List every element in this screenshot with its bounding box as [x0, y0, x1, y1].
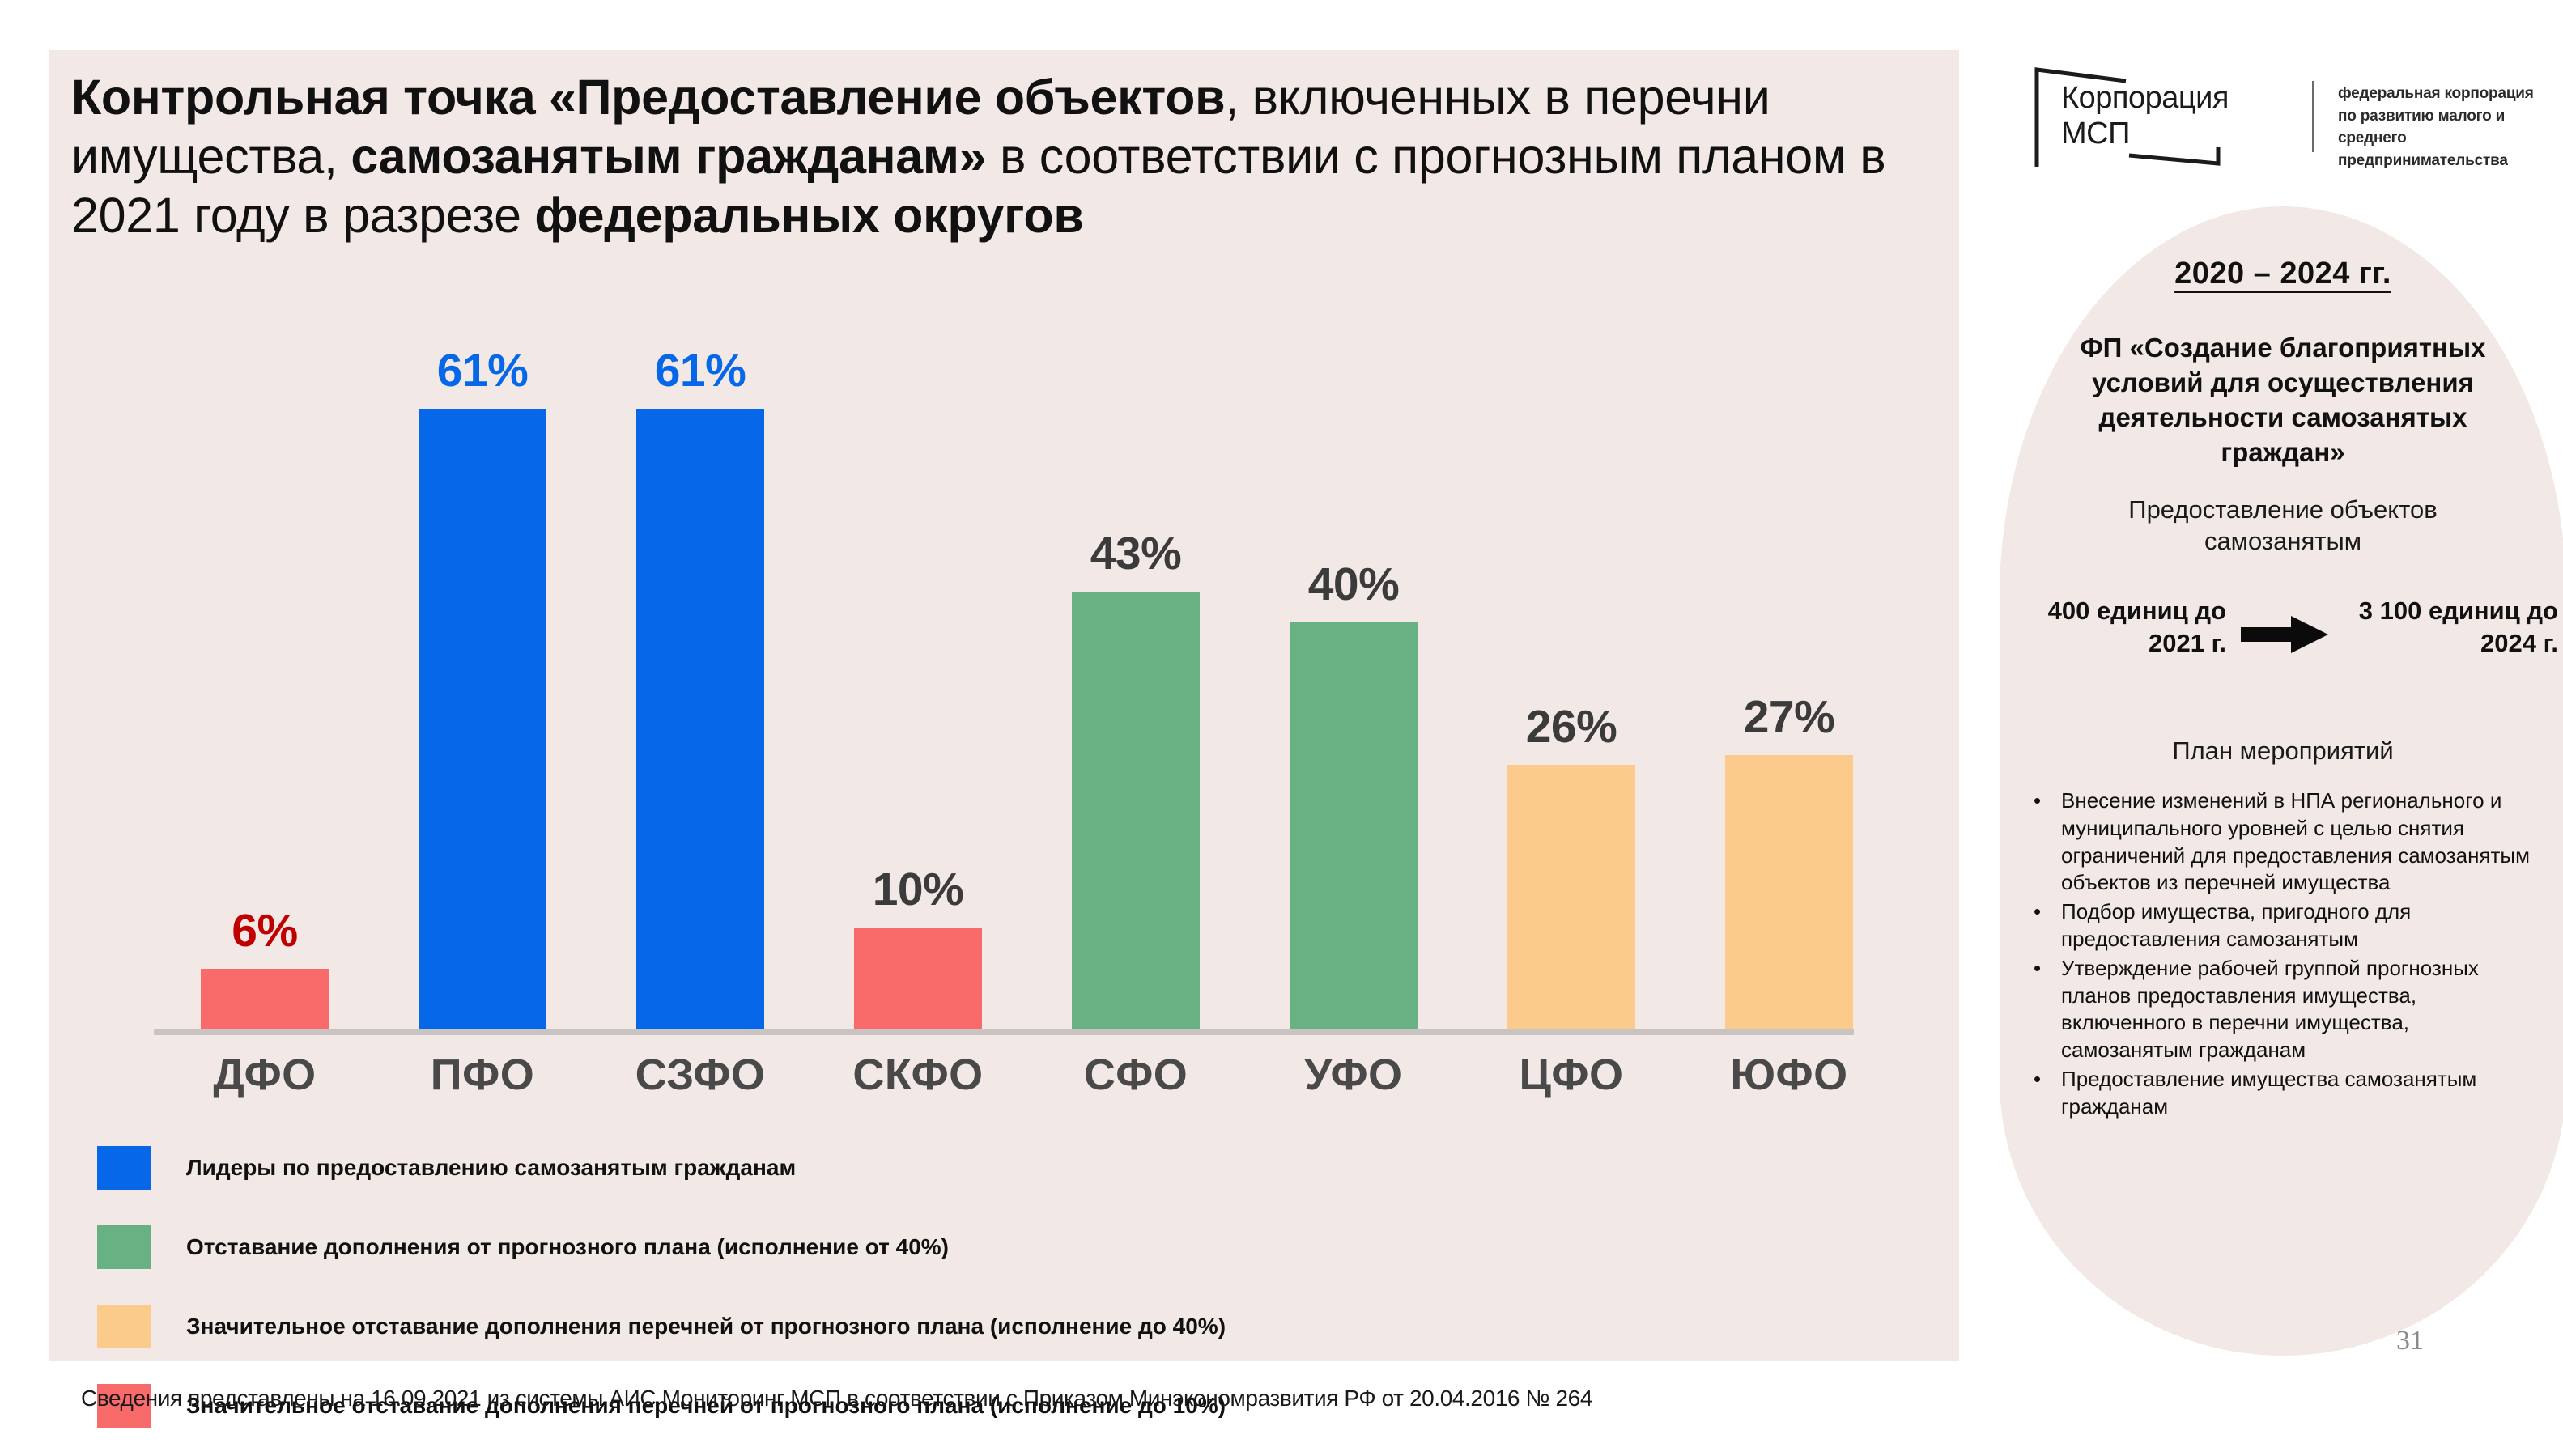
- category-label-сзфо: СЗФО: [614, 1050, 787, 1100]
- category-label-сфо: СФО: [1049, 1050, 1222, 1100]
- bar-value-label: 6%: [178, 904, 351, 957]
- bar-юфо: [1725, 755, 1853, 1029]
- sidebar-oval-panel: 2020 – 2024 гг. ФП «Создание благоприятн…: [2000, 206, 2563, 1356]
- chart-plot-area: 6%61%61%10%43%40%26%27%: [154, 317, 1854, 1029]
- legend-swatch: [97, 1225, 151, 1269]
- bar-value-label: 27%: [1702, 690, 1876, 744]
- bar-group: 26%: [1485, 317, 1658, 1029]
- bullet-item-2: •Утверждение рабочей группой прогнозных …: [2034, 955, 2535, 1064]
- legend-label: Значительное отставание дополнения переч…: [186, 1314, 1226, 1339]
- legend-label: Отставание дополнения от прогнозного пла…: [186, 1234, 949, 1260]
- bullet-text: Утверждение рабочей группой прогнозных п…: [2061, 955, 2535, 1064]
- sidebar-plan-heading: План мероприятий: [2048, 736, 2518, 766]
- bar-value-label: 61%: [614, 344, 787, 397]
- chart-axis-line: [154, 1029, 1854, 1035]
- bar-value-label: 10%: [831, 863, 1005, 916]
- units-to: 3 100 единиц до 2024 г.: [2331, 595, 2558, 659]
- category-label-уфо: УФО: [1267, 1050, 1440, 1100]
- legend-item-0: Лидеры по предоставлению самозанятым гра…: [97, 1139, 1878, 1197]
- bullet-dot-icon: •: [2034, 787, 2061, 897]
- bar-group: 61%: [396, 317, 569, 1029]
- title-segment-0: Контрольная точка «Предоставление объект…: [71, 70, 1225, 125]
- page-number: 31: [2396, 1326, 2424, 1356]
- category-label-дфо: ДФО: [178, 1050, 351, 1100]
- bar-скфо: [854, 928, 982, 1029]
- category-label-юфо: ЮФО: [1702, 1050, 1876, 1100]
- bar-group: 10%: [831, 317, 1005, 1029]
- bullet-item-1: •Подбор имущества, пригодного для предос…: [2034, 898, 2535, 953]
- bar-уфо: [1290, 622, 1418, 1029]
- bar-value-label: 43%: [1049, 527, 1222, 580]
- main-content-panel: Контрольная точка «Предоставление объект…: [49, 50, 1959, 1361]
- bullet-item-3: •Предоставление имущества самозанятым гр…: [2034, 1066, 2535, 1121]
- bar-group: 40%: [1267, 317, 1440, 1029]
- bar-сзфо: [636, 409, 764, 1029]
- bullet-text: Предоставление имущества самозанятым гра…: [2061, 1066, 2535, 1121]
- category-label-цфо: ЦФО: [1485, 1050, 1658, 1100]
- corporation-msp-logo: Корпорация МСП федеральная корпорация по…: [2030, 63, 2532, 168]
- bullet-text: Подбор имущества, пригодного для предост…: [2061, 898, 2535, 953]
- legend-swatch: [97, 1305, 151, 1348]
- page-title: Контрольная точка «Предоставление объект…: [71, 68, 1925, 246]
- logo-divider: [2312, 81, 2314, 152]
- bar-group: 43%: [1049, 317, 1222, 1029]
- bar-group: 61%: [614, 317, 787, 1029]
- sidebar-subcaption: Предоставление объектов самозанятым: [2056, 494, 2510, 557]
- logo-line-1: Корпорация: [2061, 81, 2229, 116]
- logo-tagline: федеральная корпорация по развитию малог…: [2338, 83, 2540, 172]
- chart-category-labels: ДФОПФОСЗФОСКФОСФОУФОЦФОЮФО: [154, 1050, 1854, 1114]
- legend-item-2: Значительное отставание дополнения переч…: [97, 1297, 1878, 1356]
- arrow-right-icon: [2241, 616, 2330, 653]
- legend-swatch: [97, 1146, 151, 1190]
- units-from: 400 единиц до 2021 г.: [2008, 595, 2226, 659]
- bar-цфо: [1507, 765, 1635, 1029]
- bullet-item-0: •Внесение изменений в НПА регионального …: [2034, 787, 2535, 897]
- category-label-пфо: ПФО: [396, 1050, 569, 1100]
- bar-пфо: [419, 409, 546, 1029]
- bar-дфо: [201, 969, 329, 1029]
- sidebar-years: 2020 – 2024 гг.: [2000, 257, 2563, 291]
- bar-value-label: 40%: [1267, 558, 1440, 611]
- category-label-скфо: СКФО: [831, 1050, 1005, 1100]
- bar-сфо: [1072, 592, 1200, 1029]
- sidebar-units-row: 400 единиц до 2021 г. 3 100 единиц до 20…: [2008, 595, 2558, 684]
- logo-line-2: МСП: [2061, 117, 2130, 151]
- bar-value-label: 26%: [1485, 700, 1658, 753]
- title-segment-2: самозанятым гражданам»: [351, 129, 986, 184]
- legend-item-1: Отставание дополнения от прогнозного пла…: [97, 1218, 1878, 1276]
- bullet-text: Внесение изменений в НПА регионального и…: [2061, 787, 2535, 897]
- logo-mark: Корпорация МСП: [2030, 63, 2297, 168]
- title-segment-4: федеральных округов: [534, 188, 1083, 243]
- sidebar-fp-title: ФП «Создание благоприятных условий для о…: [2048, 331, 2518, 470]
- bracket-icon: [2030, 63, 2297, 168]
- bullet-dot-icon: •: [2034, 955, 2061, 1064]
- sidebar-bullet-list: •Внесение изменений в НПА регионального …: [2034, 787, 2535, 1123]
- bullet-dot-icon: •: [2034, 1066, 2061, 1121]
- bar-value-label: 61%: [396, 344, 569, 397]
- bullet-dot-icon: •: [2034, 898, 2061, 953]
- footer-note: Сведения представлены на 16.09.2021 из с…: [81, 1386, 1592, 1411]
- bar-chart: 6%61%61%10%43%40%26%27% ДФОПФОСЗФОСКФОСФ…: [154, 317, 1854, 1078]
- bar-group: 6%: [178, 317, 351, 1029]
- bar-group: 27%: [1702, 317, 1876, 1029]
- legend-label: Лидеры по предоставлению самозанятым гра…: [186, 1155, 796, 1181]
